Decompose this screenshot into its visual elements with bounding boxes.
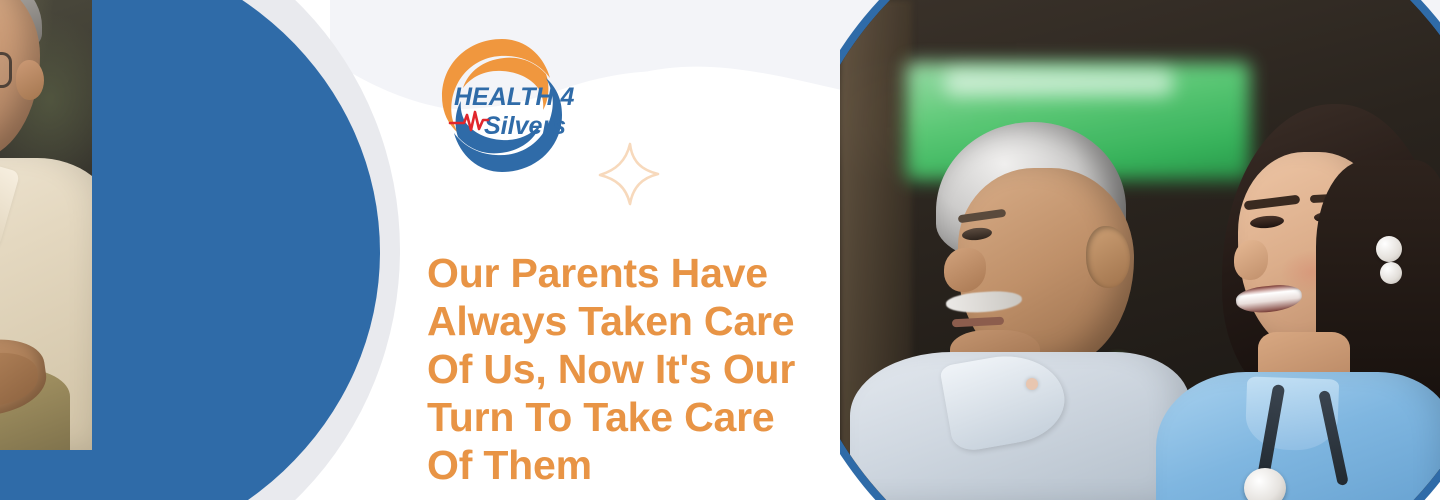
logo-line-2: Silvers — [484, 112, 566, 140]
logo-line-1: HEALTH 4 — [454, 83, 574, 111]
left-photo-frame — [0, 0, 92, 450]
nurse-earring-lower — [1380, 262, 1402, 284]
senior-man-shirt-button — [1026, 378, 1038, 390]
green-banner-highlight — [944, 70, 1174, 96]
left-photo-content — [0, 0, 92, 450]
stethoscope-chestpiece — [1244, 468, 1286, 500]
headline-line-4: Turn To Take Care — [427, 393, 817, 441]
right-image-circle-mask — [840, 0, 1440, 500]
eyeglasses-right-lens — [0, 52, 12, 88]
nurse-nose — [1234, 240, 1268, 280]
headline-line-5: Of Them — [427, 441, 817, 489]
headline-line-2: Always Taken Care — [427, 297, 817, 345]
right-photo-content — [840, 0, 1440, 500]
headline-line-3: Of Us, Now It's Our — [427, 345, 817, 393]
left-hero-image — [0, 0, 400, 500]
senior-man-ear — [1086, 226, 1130, 288]
hero-headline: Our Parents Have Always Taken Care Of Us… — [427, 249, 817, 489]
nurse-earring-upper — [1376, 236, 1402, 262]
hero-banner: HEALTH 4 Silvers Our Parents Have Always… — [0, 0, 1440, 500]
headline-line-1: Our Parents Have — [427, 249, 817, 297]
right-hero-image — [840, 0, 1440, 500]
health-4-silvers-logo[interactable]: HEALTH 4 Silvers — [428, 30, 576, 180]
elderly-man-ear — [16, 60, 44, 100]
